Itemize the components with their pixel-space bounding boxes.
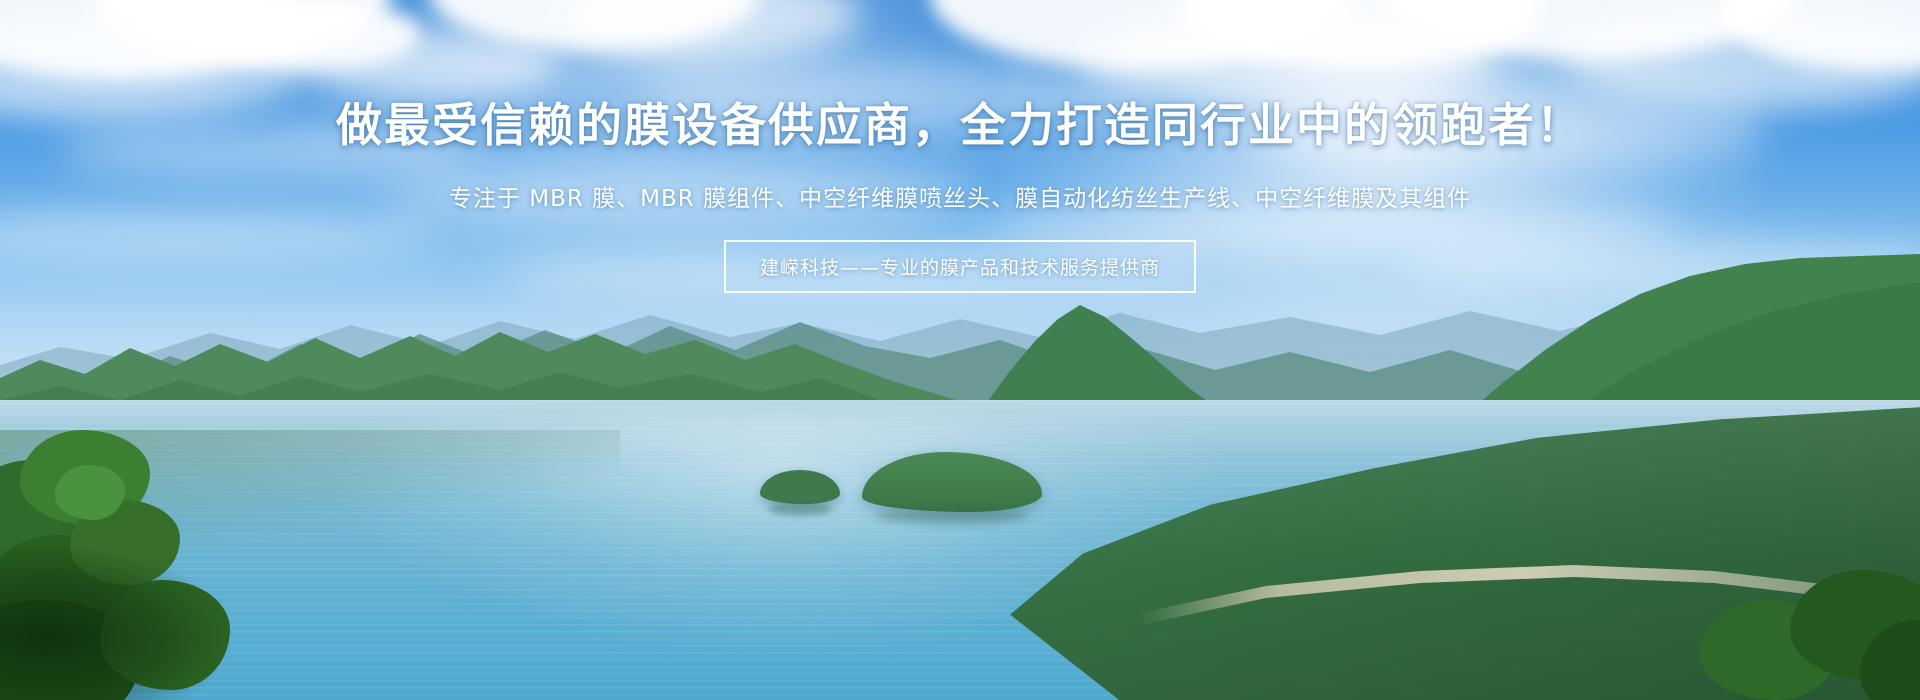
cloud-wisp bbox=[640, 60, 1160, 130]
foreground-foliage-right bbox=[1700, 560, 1920, 700]
island-large-reflection bbox=[876, 508, 1028, 524]
cloud-wisp bbox=[1250, 90, 1770, 170]
island-small-reflection bbox=[768, 502, 832, 516]
cloud-wisp bbox=[380, 170, 980, 220]
foreground-branch-shadow bbox=[0, 545, 230, 700]
leaf-cluster bbox=[55, 465, 125, 520]
cloud-wisp bbox=[60, 120, 480, 180]
banner-tagline-box[interactable]: 建嵘科技——专业的膜产品和技术服务提供商 bbox=[724, 240, 1196, 293]
hero-banner: 做最受信赖的膜设备供应商，全力打造同行业中的领跑者！ 专注于 MBR 膜、MBR… bbox=[0, 0, 1920, 700]
